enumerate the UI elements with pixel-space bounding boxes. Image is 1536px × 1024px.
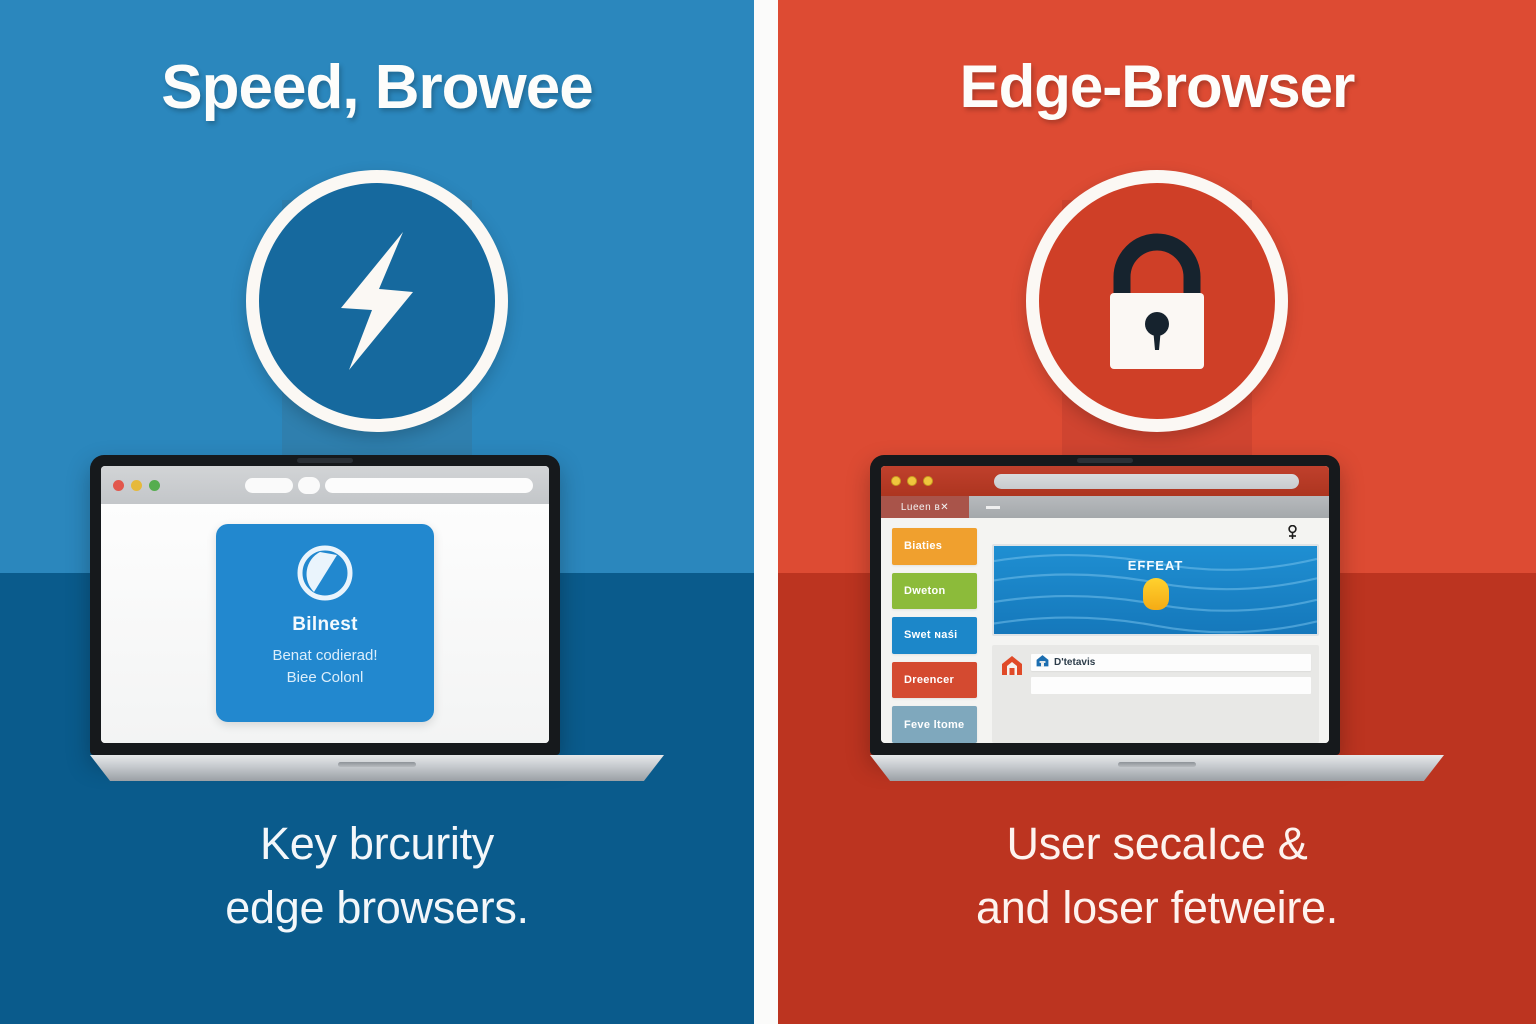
product-card[interactable]: Bilnest Benat codierad! Biee Colonl <box>216 524 434 722</box>
plus-dash-icon <box>986 506 1000 509</box>
right-panel: Edge-Browser <box>778 0 1536 1024</box>
sidebar-item-swet[interactable]: Swet ɴaśi <box>892 617 977 654</box>
right-tab-strip: Lueen ʙ✕ <box>881 496 1329 518</box>
right-caption-line-2: and loser fetweire. <box>778 876 1536 940</box>
left-webcam-notch <box>297 458 353 463</box>
close-dot-icon[interactable] <box>113 480 124 491</box>
right-caption: User secaIce & and loser fetweire. <box>778 812 1536 940</box>
left-page-content: Bilnest Benat codierad! Biee Colonl <box>101 504 549 743</box>
right-webcam-notch <box>1077 458 1133 463</box>
lightning-bolt-icon <box>317 226 437 376</box>
address-bar[interactable] <box>325 478 533 493</box>
left-caption-line-2: edge browsers. <box>0 876 754 940</box>
field-row-blank[interactable] <box>1031 677 1311 694</box>
right-lower-section: D'tetavis <box>992 645 1319 743</box>
field-row-detavis[interactable]: D'tetavis <box>1031 654 1311 671</box>
address-bar[interactable] <box>994 474 1299 489</box>
left-browser-chrome <box>101 466 549 504</box>
reload-button[interactable] <box>298 477 320 494</box>
field-label: D'tetavis <box>1054 657 1095 668</box>
padlock-icon <box>1092 227 1222 375</box>
house-red-icon <box>1001 654 1023 743</box>
minimize-dot-icon[interactable] <box>907 476 917 486</box>
user-account-icon[interactable] <box>1286 525 1299 545</box>
right-caption-line-1: User secaIce & <box>778 812 1536 876</box>
panel-divider <box>754 0 778 1024</box>
card-line-1: Benat codierad! <box>272 645 377 667</box>
sidebar-item-dweton[interactable]: Dweton <box>892 573 977 610</box>
right-laptop-base <box>870 755 1444 781</box>
left-heading: Speed, Browee <box>0 52 754 123</box>
left-laptop-lid: Bilnest Benat codierad! Biee Colonl <box>90 455 560 755</box>
card-line-2: Biee Colonl <box>287 667 364 689</box>
maximize-dot-icon[interactable] <box>923 476 933 486</box>
circle-slash-logo-icon <box>296 544 354 602</box>
right-screen: Lueen ʙ✕ Biaties Dweton Swet ɴaśi Dreenc… <box>881 466 1329 743</box>
right-browser-chrome <box>881 466 1329 496</box>
right-heading: Edge-Browser <box>778 52 1536 121</box>
new-tab-button[interactable] <box>969 496 1017 518</box>
sidebar-item-feve[interactable]: Feve ltome <box>892 706 977 743</box>
left-badge <box>246 170 508 432</box>
left-laptop: Bilnest Benat codierad! Biee Colonl <box>90 455 664 781</box>
right-page-content: Biaties Dweton Swet ɴaśi Dreencer Feve l… <box>881 518 1329 743</box>
left-laptop-base <box>90 755 664 781</box>
hero-banner[interactable]: EϜFEAT <box>992 544 1319 636</box>
minimize-dot-icon[interactable] <box>131 480 142 491</box>
left-caption: Key brcurity edge browsers. <box>0 812 754 940</box>
card-title: Bilnest <box>292 614 357 636</box>
browser-tab-active[interactable]: Lueen ʙ✕ <box>881 496 969 518</box>
left-caption-line-1: Key brcurity <box>0 812 754 876</box>
left-screen: Bilnest Benat codierad! Biee Colonl <box>101 466 549 743</box>
left-toolbar <box>245 477 537 494</box>
house-blue-icon <box>1036 654 1049 672</box>
left-panel: Speed, Browee <box>0 0 754 1024</box>
right-laptop: Lueen ʙ✕ Biaties Dweton Swet ɴaśi Dreenc… <box>870 455 1444 781</box>
right-account-bar <box>992 526 1319 544</box>
right-field-list: D'tetavis <box>1031 654 1311 743</box>
right-laptop-lid: Lueen ʙ✕ Biaties Dweton Swet ɴaśi Dreenc… <box>870 455 1340 755</box>
right-main-column: EϜFEAT <box>986 518 1329 743</box>
yellow-blob-icon <box>1143 578 1169 610</box>
hero-title: EϜFEAT <box>1128 558 1184 573</box>
right-sidebar: Biaties Dweton Swet ɴaśi Dreencer Feve l… <box>881 518 986 743</box>
right-badge <box>1026 170 1288 432</box>
sidebar-item-dreencer[interactable]: Dreencer <box>892 662 977 699</box>
back-button[interactable] <box>245 478 293 493</box>
maximize-dot-icon[interactable] <box>149 480 160 491</box>
sidebar-item-biaties[interactable]: Biaties <box>892 528 977 565</box>
comparison-infographic: Speed, Browee <box>0 0 1536 1024</box>
close-dot-icon[interactable] <box>891 476 901 486</box>
